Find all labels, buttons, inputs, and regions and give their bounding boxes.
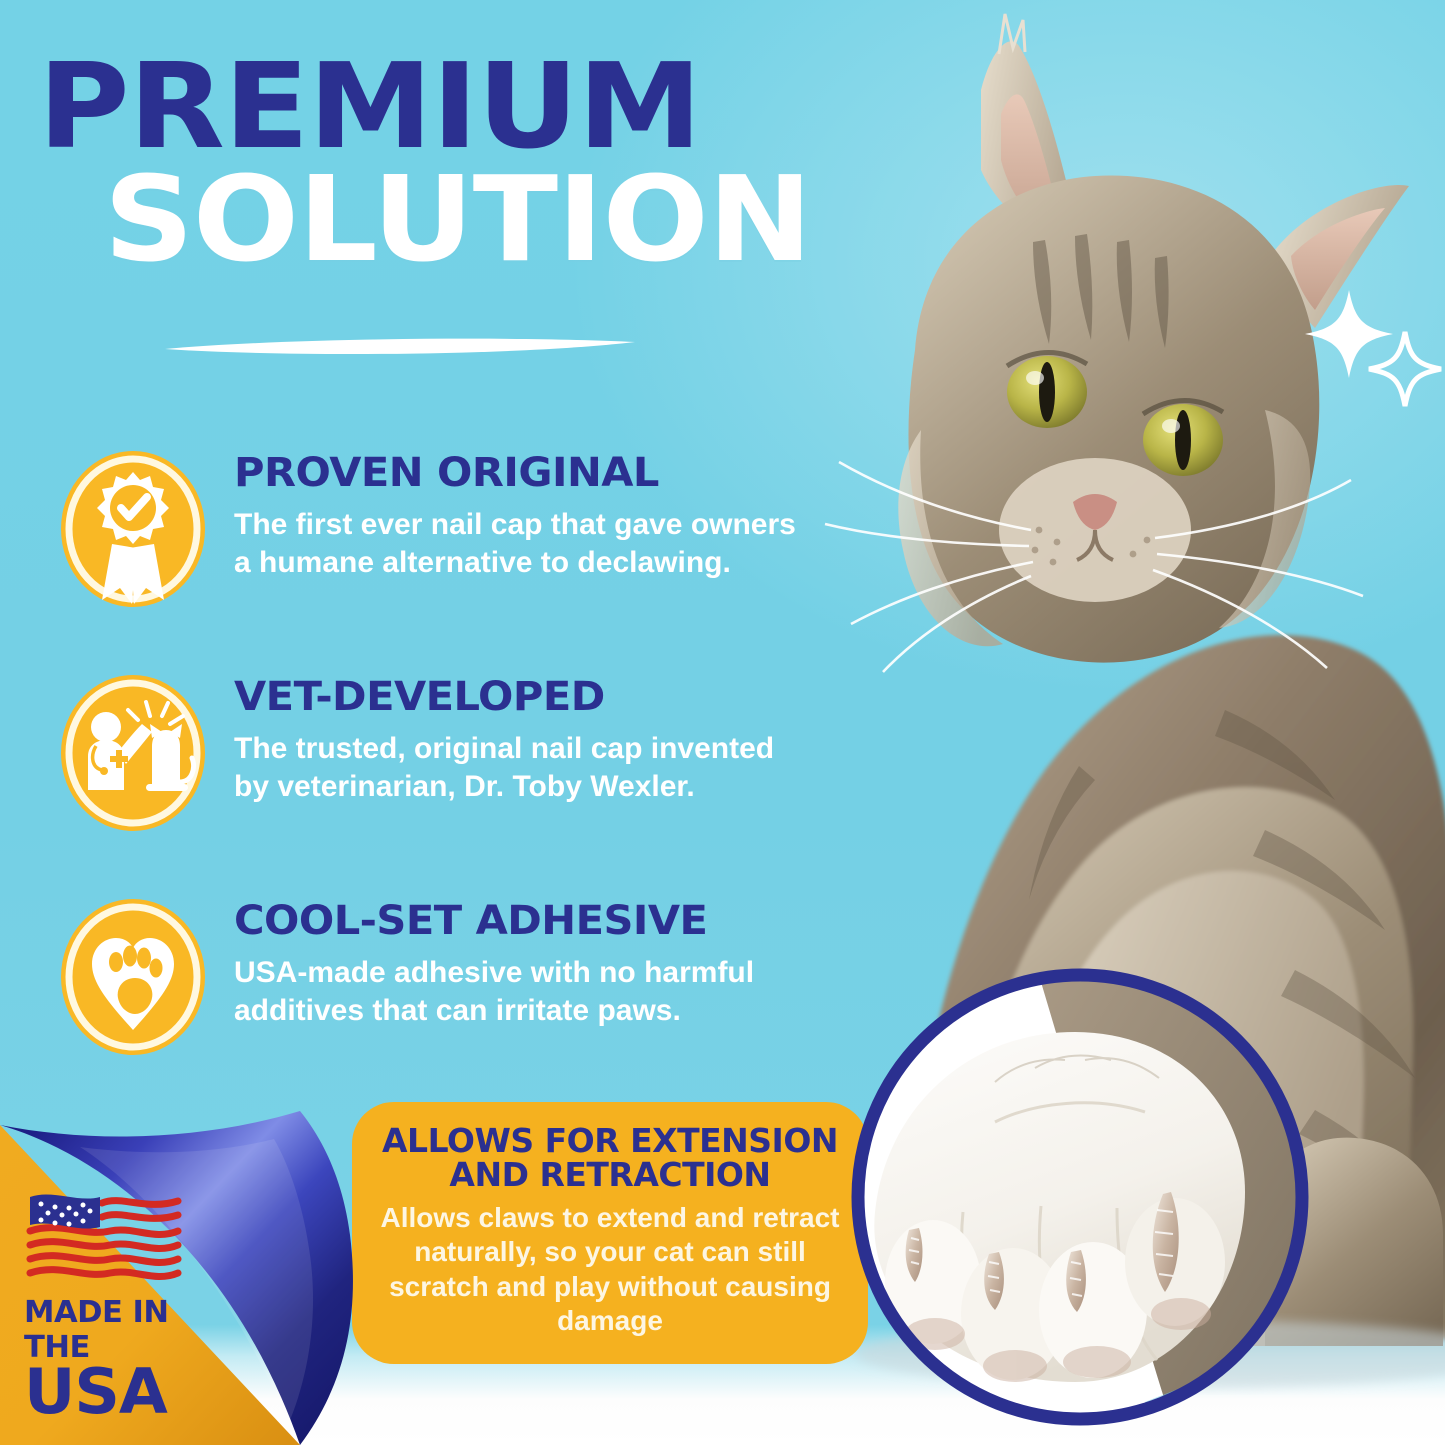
headline-line-1: PREMIUM (38, 52, 875, 161)
made-in-usa-badge: MADE IN THE USA (24, 1191, 239, 1423)
us-flag-icon (24, 1191, 184, 1283)
usa-label: USA (24, 1361, 243, 1423)
feature-item-vet-developed: VET-DEVELOPED The trusted, original nail… (58, 664, 828, 834)
feature-title: COOL-SET ADHESIVE (234, 898, 852, 944)
headline: PREMIUM SOLUTION (38, 52, 828, 273)
feature-body: The first ever nail cap that gave owners… (234, 506, 814, 583)
award-ribbon-check-icon (58, 448, 208, 610)
feature-title: VET-DEVELOPED (234, 674, 852, 720)
cat-paw-with-nail-caps-photo (845, 962, 1315, 1432)
heart-paw-icon (58, 896, 208, 1058)
feature-title: PROVEN ORIGINAL (234, 450, 852, 496)
sparkle-outline-icon (1369, 332, 1441, 406)
sparkle-group (1305, 288, 1445, 408)
callout-body: Allows claws to extend and retract natur… (378, 1201, 842, 1338)
feature-body: USA-made adhesive with no harmful additi… (234, 954, 814, 1031)
product-infographic: PREMIUM SOLUTION (0, 0, 1445, 1445)
veterinarian-high-five-cat-icon (58, 672, 208, 834)
feature-list: PROVEN ORIGINAL The first ever nail cap … (58, 440, 828, 1112)
feature-body: The trusted, original nail cap invented … (234, 730, 814, 807)
headline-line-2: SOLUTION (38, 165, 875, 274)
feature-item-cool-set-adhesive: COOL-SET ADHESIVE USA-made adhesive with… (58, 888, 828, 1058)
lens-divider-icon (165, 336, 635, 358)
callout-title: ALLOWS FOR EXTENSION AND RETRACTION (378, 1124, 842, 1191)
feature-item-proven-original: PROVEN ORIGINAL The first ever nail cap … (58, 440, 828, 610)
